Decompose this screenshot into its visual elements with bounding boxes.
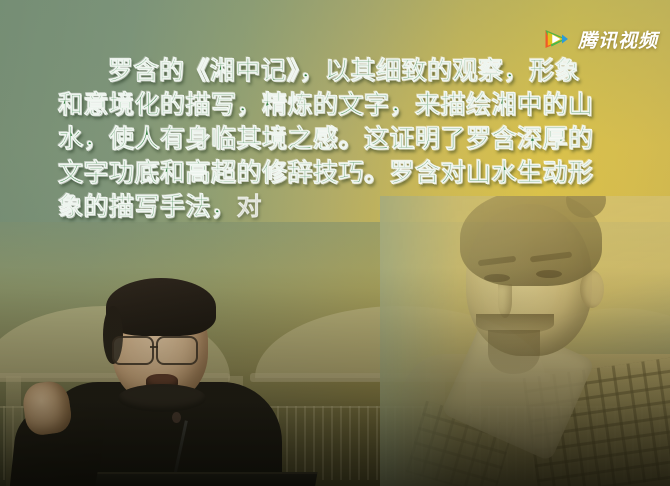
subtitle-text: 水，使人有身临其境之感。这证明了罗含深厚的 (58, 124, 594, 153)
subtitle-text: 象的描写手法， (58, 192, 237, 221)
tencent-video-watermark: 腾讯视频 (541, 24, 658, 54)
subtitle-line: 罗含的《湘中记》，以其细致的观察，形象 (58, 54, 612, 88)
subtitle-line: 和意境化的描写，精炼的文字，来描绘湘中的山 (58, 88, 612, 122)
play-triangle-icon (541, 24, 571, 54)
subtitle-line: 水，使人有身临其境之感。这证明了罗含深厚的 (58, 122, 612, 156)
subtitle-text: 文字功底和高超的修辞技巧。罗含对山水生动形 (58, 158, 594, 187)
watermark-brand-label: 腾讯视频 (578, 26, 658, 53)
subtitle-pending-text: 对 (237, 192, 263, 221)
subtitle-line: 文字功底和高超的修辞技巧。罗含对山水生动形 (58, 156, 612, 190)
subtitle-line: 象的描写手法，对 (58, 190, 612, 224)
subtitle-text: 罗含的《湘中记》，以其细致的观察，形象 (108, 56, 580, 85)
video-player-frame: 罗含的《湘中记》，以其细致的观察，形象 和意境化的描写，精炼的文字，来描绘湘中的… (0, 0, 670, 486)
subtitle-block: 罗含的《湘中记》，以其细致的观察，形象 和意境化的描写，精炼的文字，来描绘湘中的… (0, 54, 670, 224)
subtitle-text: 和意境化的描写，精炼的文字，来描绘湘中的山 (58, 90, 594, 119)
